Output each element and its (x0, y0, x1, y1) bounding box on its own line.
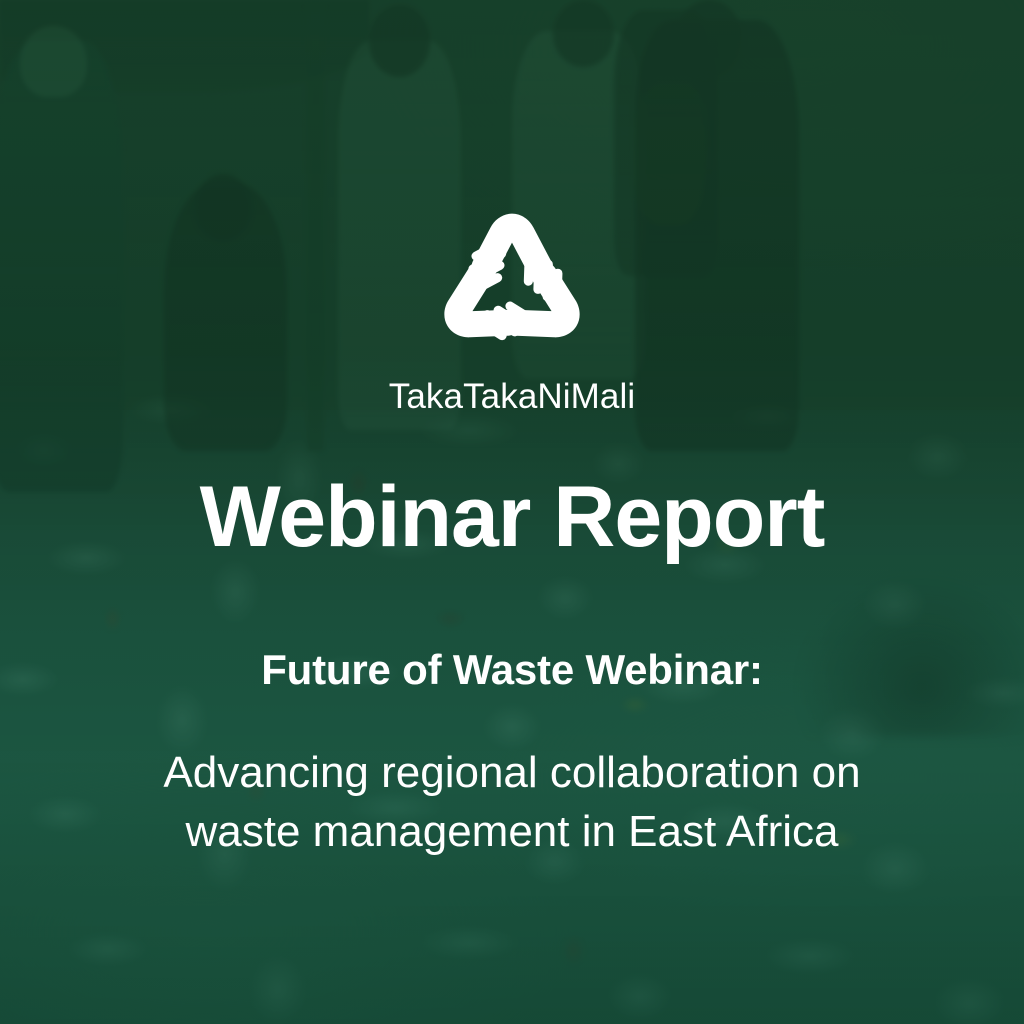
brand-logo: TakaTakaNiMali (389, 200, 636, 414)
cover-content: TakaTakaNiMali Webinar Report Future of … (0, 0, 1024, 1024)
webinar-report-cover: TakaTakaNiMali Webinar Report Future of … (0, 0, 1024, 1024)
three-hands-recycling-triangle-icon (429, 200, 595, 370)
page-description: Advancing regional collaboration on wast… (102, 744, 922, 862)
brand-wordmark: TakaTakaNiMali (389, 379, 636, 414)
page-subtitle: Future of Waste Webinar: (261, 647, 763, 693)
page-title: Webinar Report (200, 474, 825, 562)
